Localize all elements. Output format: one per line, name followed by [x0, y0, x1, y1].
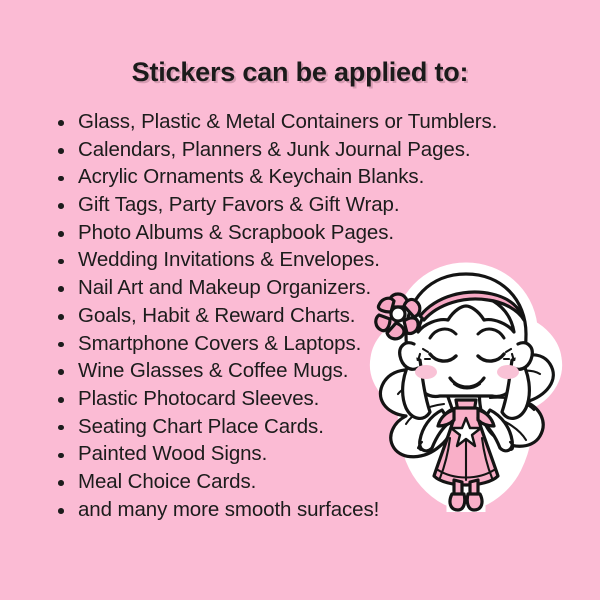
sticker-info-poster: Stickers can be applied to: Glass, Plast…: [0, 0, 600, 600]
list-item: Painted Wood Signs.: [52, 440, 572, 468]
list-item: Glass, Plastic & Metal Containers or Tum…: [52, 108, 572, 136]
list-item: Nail Art and Makeup Organizers.: [52, 274, 572, 302]
applicable-surfaces-list: Glass, Plastic & Metal Containers or Tum…: [52, 108, 572, 523]
list-item: Calendars, Planners & Junk Journal Pages…: [52, 136, 572, 164]
page-title: Stickers can be applied to:: [0, 57, 600, 88]
list-item: Smartphone Covers & Laptops.: [52, 330, 572, 358]
list-item: Plastic Photocard Sleeves.: [52, 385, 572, 413]
list-item: Wedding Invitations & Envelopes.: [52, 246, 572, 274]
list-item: Seating Chart Place Cards.: [52, 413, 572, 441]
list-item: Acrylic Ornaments & Keychain Blanks.: [52, 163, 572, 191]
list-item: Photo Albums & Scrapbook Pages.: [52, 219, 572, 247]
list-item: Goals, Habit & Reward Charts.: [52, 302, 572, 330]
list-item: Wine Glasses & Coffee Mugs.: [52, 357, 572, 385]
list-item: Gift Tags, Party Favors & Gift Wrap.: [52, 191, 572, 219]
list-item: and many more smooth surfaces!: [52, 496, 572, 524]
list-item: Meal Choice Cards.: [52, 468, 572, 496]
